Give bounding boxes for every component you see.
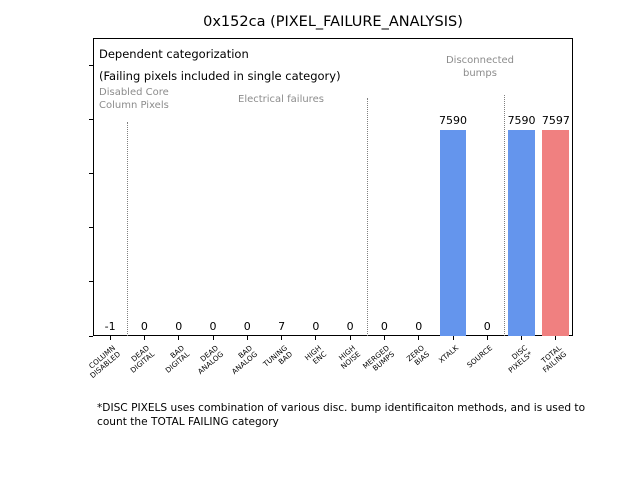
- x-tick-mark: [213, 336, 214, 340]
- annotation-disabled-core-line1: Disabled Core: [99, 87, 169, 100]
- annotation-disconnected-bumps-line2: bumps: [410, 68, 550, 81]
- x-tick-mark: [110, 336, 111, 340]
- category-divider-line: [504, 95, 505, 336]
- y-tick-mark: [89, 119, 93, 120]
- category-divider-line: [127, 122, 128, 336]
- x-tick-mark: [247, 336, 248, 340]
- category-divider-line: [367, 98, 368, 336]
- annotation-disconnected-bumps-line1: Disconnected: [410, 55, 550, 68]
- x-tick-mark: [144, 336, 145, 340]
- bar[interactable]: [440, 130, 467, 336]
- y-tick-mark: [89, 173, 93, 174]
- annotation-disabled-core-line2: Column Pixels: [99, 100, 169, 113]
- x-tick-mark: [453, 336, 454, 340]
- x-tick-mark: [281, 336, 282, 340]
- x-tick-mark: [555, 336, 556, 340]
- x-tick-mark: [384, 336, 385, 340]
- x-tick-mark: [418, 336, 419, 340]
- x-tick-mark: [178, 336, 179, 340]
- bar[interactable]: [542, 130, 569, 336]
- x-tick-mark: [350, 336, 351, 340]
- bar-value-label: 7590: [423, 114, 483, 127]
- bar[interactable]: [508, 130, 535, 336]
- footnote: *DISC PIXELS uses combination of various…: [97, 401, 617, 430]
- y-tick-mark: [89, 65, 93, 66]
- annotation-dependent-categorization-line2: (Failing pixels included in single categ…: [99, 69, 341, 83]
- annotation-electrical-failures: Electrical failures: [238, 94, 324, 107]
- bar-value-label: 7597: [526, 114, 586, 127]
- figure-canvas: 0x152ca (PIXEL_FAILURE_ANALYSIS) Number …: [0, 0, 640, 480]
- x-tick-mark: [315, 336, 316, 340]
- y-tick-mark: [89, 281, 93, 282]
- page-title: 0x152ca (PIXEL_FAILURE_ANALYSIS): [93, 14, 573, 30]
- annotation-dependent-categorization-line1: Dependent categorization: [99, 47, 249, 61]
- y-tick-mark: [89, 227, 93, 228]
- x-tick-mark: [521, 336, 522, 340]
- y-tick-mark: [89, 336, 93, 337]
- x-tick-mark: [487, 336, 488, 340]
